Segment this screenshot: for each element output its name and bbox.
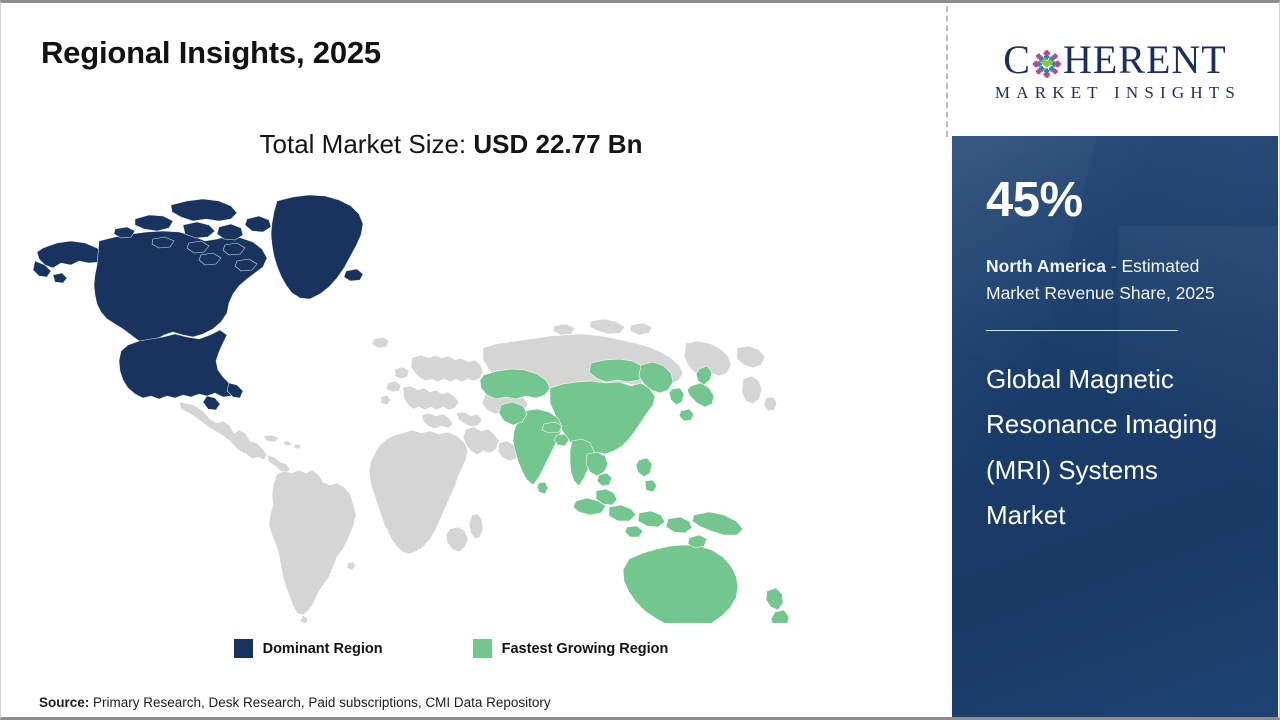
total-market-size: Total Market Size: USD 22.77 Bn (1, 129, 901, 160)
page-title: Regional Insights, 2025 (41, 35, 381, 71)
source-label: Source: (39, 695, 89, 710)
company-logo: C (952, 6, 1278, 136)
logo-wordmark: C (1003, 40, 1226, 80)
left-content-pane: Regional Insights, 2025 Total Market Siz… (1, 3, 946, 717)
stat-panel-content: 45% North America - Estimated Market Rev… (952, 176, 1278, 538)
infographic-page: Regional Insights, 2025 Total Market Siz… (0, 0, 1280, 720)
market-size-label: Total Market Size: (260, 129, 474, 159)
stat-region-name: North America (986, 256, 1106, 276)
map-dominant-region (33, 195, 363, 410)
legend-item-fastest: Fastest Growing Region (473, 639, 669, 658)
legend-item-dominant: Dominant Region (234, 639, 383, 658)
globe-icon (1032, 46, 1062, 76)
regional-stat-panel: 45% North America - Estimated Market Rev… (952, 136, 1278, 717)
logo-letter-c: C (1003, 40, 1031, 80)
map-legend: Dominant Region Fastest Growing Region (1, 639, 901, 658)
source-text: Primary Research, Desk Research, Paid su… (89, 695, 550, 710)
panel-divider (986, 330, 1178, 331)
market-size-value: USD 22.77 Bn (473, 129, 642, 159)
legend-label-dominant: Dominant Region (263, 641, 383, 657)
stat-description: North America - Estimated Market Revenue… (986, 253, 1244, 306)
logo-letters-herent: HERENT (1063, 40, 1227, 80)
world-map-svg (31, 183, 831, 623)
map-fastest-growing-region (480, 359, 789, 623)
dominant-swatch-icon (234, 639, 253, 658)
stat-percentage: 45% (986, 176, 1244, 225)
fastest-swatch-icon (473, 639, 492, 658)
source-note: Source: Primary Research, Desk Research,… (39, 695, 551, 710)
market-report-name: Global Magnetic Resonance Imaging (MRI) … (986, 357, 1226, 538)
logo-tagline: MARKET INSIGHTS (989, 83, 1241, 103)
legend-label-fastest: Fastest Growing Region (502, 641, 669, 657)
world-map (31, 183, 831, 623)
vertical-dashed-divider (946, 6, 948, 137)
